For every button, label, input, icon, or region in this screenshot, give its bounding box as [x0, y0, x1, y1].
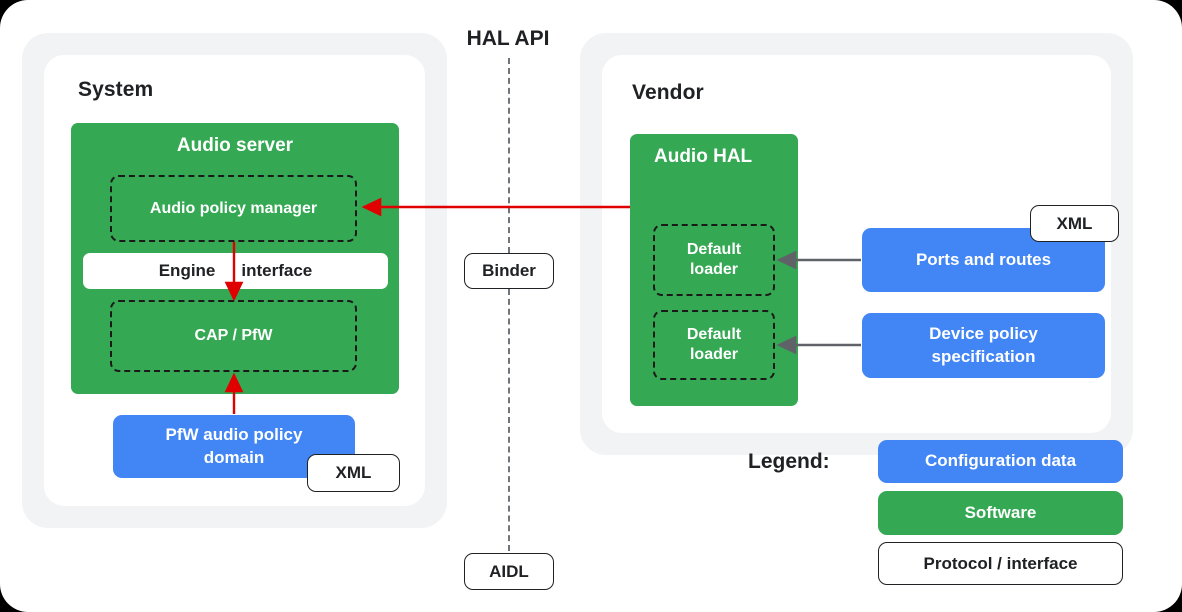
default-loader-1-line-1: Default [687, 240, 741, 260]
device-policy-line-1: Device policy [929, 323, 1038, 345]
legend-item-software: Software [878, 491, 1123, 535]
pfw-domain-line-2: domain [166, 447, 303, 469]
system-group-label: System [78, 78, 153, 102]
legend-item-configuration-data: Configuration data [878, 440, 1123, 483]
vendor-xml-badge: XML [1030, 205, 1119, 242]
default-loader-2-line-1: Default [687, 325, 741, 345]
pfw-domain-line-1: PfW audio policy [166, 424, 303, 446]
default-loader-box-2: Default loader [653, 310, 775, 380]
cap-pfw-box: CAP / PfW [110, 300, 357, 372]
audio-hal-title: Audio HAL [630, 146, 798, 168]
default-loader-1-line-2: loader [687, 260, 741, 280]
system-xml-badge: XML [307, 454, 400, 492]
default-loader-2-line-2: loader [687, 345, 741, 365]
interface-label: interface [241, 261, 312, 281]
hal-boundary-line-bottom [508, 289, 510, 551]
engine-label: Engine [159, 261, 216, 281]
binder-box: Binder [464, 253, 554, 289]
aidl-box: AIDL [464, 553, 554, 590]
audio-server-title: Audio server [71, 135, 399, 157]
hal-api-label: HAL API [438, 27, 578, 51]
device-policy-specification-box: Device policy specification [862, 313, 1105, 378]
legend-label: Legend: [748, 450, 830, 474]
vendor-group-label: Vendor [632, 81, 704, 105]
default-loader-box-1: Default loader [653, 224, 775, 296]
hal-boundary-line-top [508, 58, 510, 253]
device-policy-line-2: specification [929, 346, 1038, 368]
legend-item-protocol-interface: Protocol / interface [878, 542, 1123, 585]
engine-interface-box: Engine interface [83, 253, 388, 289]
audio-policy-manager-box: Audio policy manager [110, 175, 357, 242]
diagram-canvas: System Audio server Audio policy manager… [0, 0, 1182, 612]
